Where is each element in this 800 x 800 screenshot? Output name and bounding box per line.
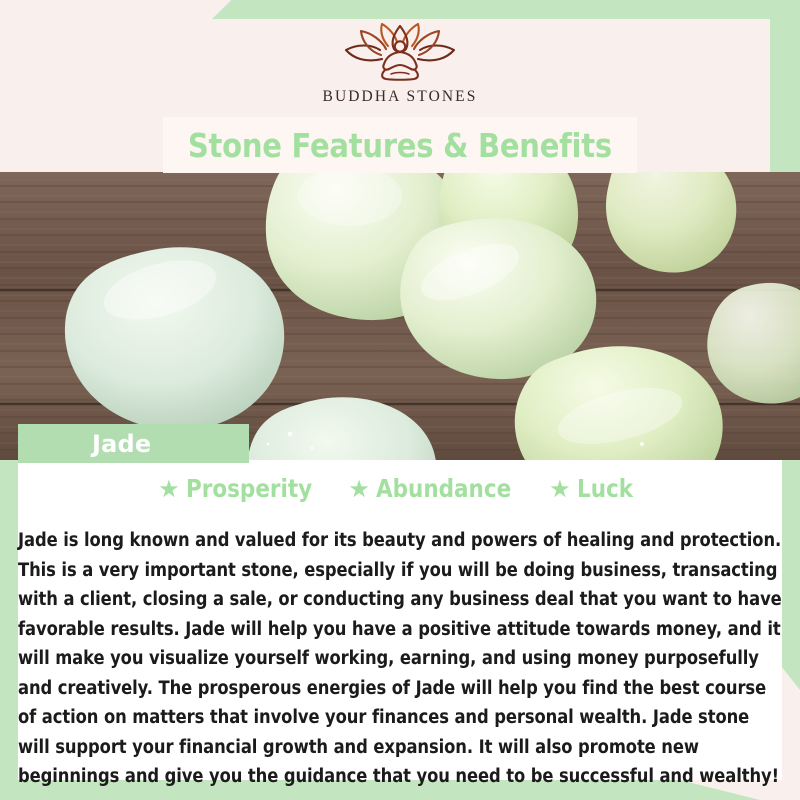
benefit-item-prosperity: ★ Prosperity (158, 474, 332, 503)
benefit-item-abundance: ★ Abundance (348, 474, 533, 503)
stone-description: Jade is long known and valued for its be… (18, 526, 784, 792)
benefit-label: Prosperity (186, 474, 312, 503)
page-title: Stone Features & Benefits (188, 126, 612, 165)
lotus-meditation-icon (341, 22, 459, 84)
benefit-label: Luck (577, 474, 633, 503)
stone-name-label: Jade (92, 430, 151, 458)
brand-name: BUDDHA STONES (323, 88, 478, 106)
brand-header: BUDDHA STONES (0, 0, 800, 118)
stone-info-card: BUDDHA STONES Stone Features & Benefits (0, 0, 800, 800)
stone-name-badge: Jade (18, 424, 249, 463)
star-icon: ★ (158, 477, 180, 501)
star-icon: ★ (348, 477, 370, 501)
stone-photo (0, 172, 800, 460)
title-banner: Stone Features & Benefits (163, 117, 637, 173)
star-icon: ★ (549, 477, 571, 501)
benefits-row: ★ Prosperity ★ Abundance ★ Luck (0, 474, 800, 503)
benefit-item-luck: ★ Luck (549, 474, 642, 503)
benefit-label: Abundance (376, 474, 511, 503)
